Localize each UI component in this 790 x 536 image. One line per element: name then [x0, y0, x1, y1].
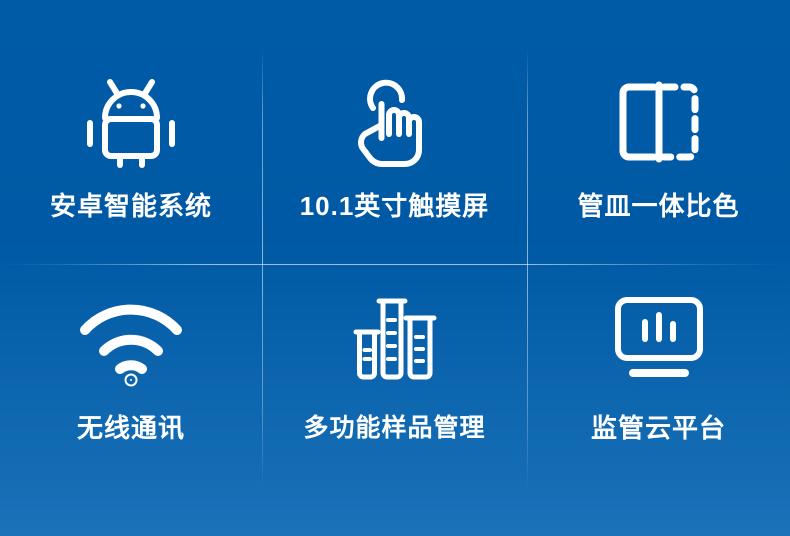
split-panel-icon	[614, 78, 704, 166]
feature-label: 无线通讯	[77, 408, 185, 445]
touch-hand-icon	[350, 78, 440, 166]
feature-cell-touchscreen[interactable]: 10.1英寸触摸屏	[262, 0, 527, 264]
feature-cell-sample-management[interactable]: 多功能样品管理	[262, 264, 527, 536]
feature-label: 安卓智能系统	[50, 186, 212, 223]
test-tubes-icon	[347, 294, 443, 382]
feature-label: 管皿一体比色	[577, 186, 739, 223]
feature-board: 安卓智能系统 10.1英寸触摸屏	[0, 0, 790, 536]
feature-label: 10.1英寸触摸屏	[300, 186, 490, 223]
feature-label: 多功能样品管理	[303, 408, 485, 444]
feature-cell-tube-cuvette[interactable]: 管皿一体比色	[527, 0, 790, 264]
feature-cell-wireless[interactable]: 无线通讯	[0, 264, 262, 536]
monitor-chart-icon	[612, 294, 706, 382]
feature-cell-cloud-platform[interactable]: 监管云平台	[527, 264, 790, 536]
feature-label: 监管云平台	[591, 408, 726, 445]
wifi-icon	[77, 294, 185, 382]
android-robot-icon	[79, 78, 183, 166]
feature-grid: 安卓智能系统 10.1英寸触摸屏	[0, 0, 790, 536]
feature-cell-android-system[interactable]: 安卓智能系统	[0, 0, 262, 264]
